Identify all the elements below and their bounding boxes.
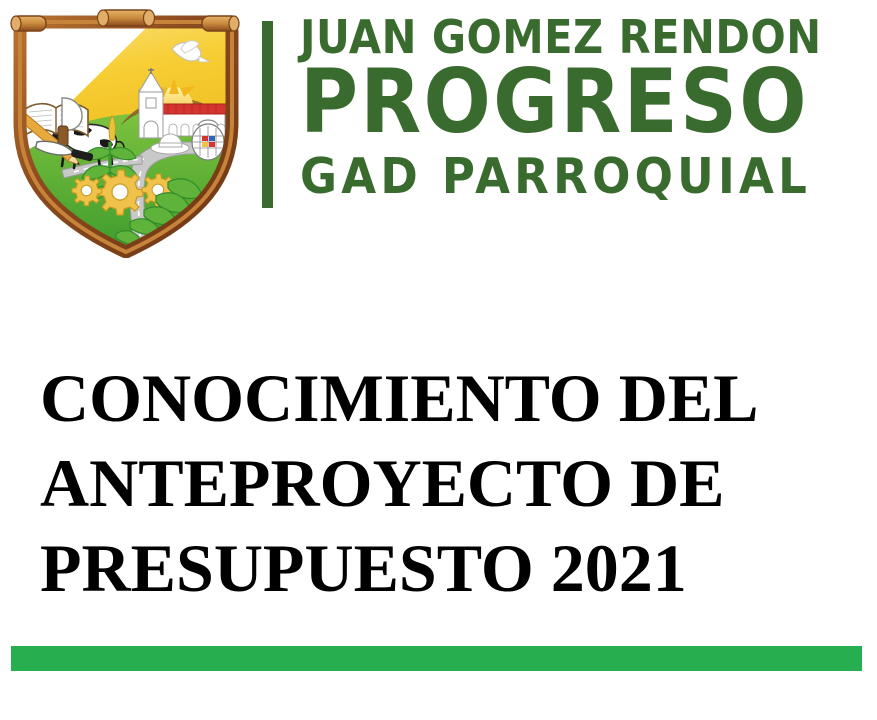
brand-subtitle: GAD PARROQUIAL	[300, 152, 818, 201]
brand-divider	[262, 21, 273, 208]
brand-main-name: PROGRESO	[300, 58, 807, 146]
coat-of-arms-shield-icon	[2, 2, 250, 258]
slide-canvas: JUAN GOMEZ RENDON PROGRESO GAD PARROQUIA…	[0, 0, 877, 720]
page-title: CONOCIMIENTO DEL ANTEPROYECTO DE PRESUPU…	[40, 356, 860, 611]
page-title-line-3: PRESUPUESTO 2021	[40, 526, 860, 611]
header-logo-lockup: JUAN GOMEZ RENDON PROGRESO GAD PARROQUIA…	[0, 0, 877, 260]
page-title-line-1: CONOCIMIENTO DEL	[40, 356, 860, 441]
accent-bar	[11, 646, 862, 671]
brand-wordmark: JUAN GOMEZ RENDON PROGRESO GAD PARROQUIA…	[300, 0, 866, 215]
page-title-line-2: ANTEPROYECTO DE	[40, 441, 860, 526]
